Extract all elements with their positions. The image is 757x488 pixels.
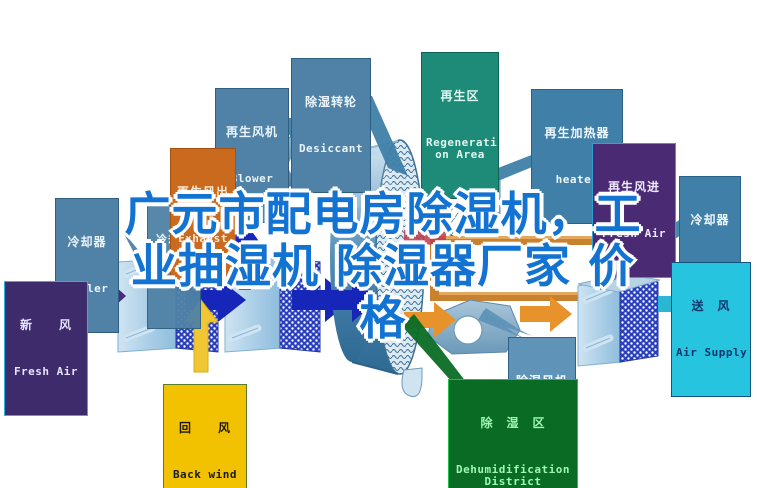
- label-regen-blower-cn: 再生风机: [220, 126, 284, 139]
- label-desiccant: 除湿转轮 Desiccant: [291, 58, 371, 193]
- label-fresh-air: 新 风 Fresh Air: [4, 281, 88, 416]
- label-dehumid-district: 除 湿 区 Dehumidification District: [448, 379, 578, 488]
- label-regen-area: 再生区 Regenerati on Area: [421, 52, 499, 199]
- diagram-canvas: 除湿转轮 Desiccant 再生风机 Blower 再生区 Regenerat…: [0, 0, 757, 488]
- label-regen-fresh-air: 再生风进 Fresh Air: [592, 143, 676, 278]
- label-air-supply: 送 风 Air Supply: [671, 262, 751, 397]
- label-fresh-air-en: Fresh Air: [9, 366, 83, 378]
- label-regen-area-en: Regenerati on Area: [426, 137, 494, 161]
- label-dehumid-district-cn: 除 湿 区: [453, 417, 573, 430]
- label-back-wind-cn: 回 风: [168, 422, 242, 435]
- label-dehumid-district-en: Dehumidification District: [453, 464, 573, 488]
- label-desiccant-en: Desiccant: [296, 143, 366, 155]
- label-back-wind-en: Back wind: [168, 469, 242, 481]
- label-air-supply-cn: 送 风: [676, 300, 746, 313]
- label-exhaust-en: Exhaust: [175, 233, 231, 245]
- label-regen-fresh-air-en: Fresh Air: [597, 228, 671, 240]
- supply-coil-right: [578, 274, 660, 366]
- drain-piece: [402, 368, 422, 397]
- label-back-wind: 回 风 Back wind: [163, 384, 247, 488]
- label-regen-area-cn: 再生区: [426, 90, 494, 103]
- label-cooler-top-right-cn: 冷却器: [684, 214, 736, 227]
- label-fresh-air-cn: 新 风: [9, 319, 83, 332]
- label-regen-heater-cn: 再生加热器: [536, 127, 618, 140]
- label-exhaust-cn: 再生风出: [175, 186, 231, 199]
- label-regen-fresh-air-cn: 再生风进: [597, 181, 671, 194]
- label-air-supply-en: Air Supply: [676, 347, 746, 359]
- label-exhaust: 再生风出 Exhaust: [170, 148, 236, 283]
- label-desiccant-cn: 除湿转轮: [296, 96, 366, 109]
- label-cooler-left-cn: 冷却器: [60, 236, 114, 249]
